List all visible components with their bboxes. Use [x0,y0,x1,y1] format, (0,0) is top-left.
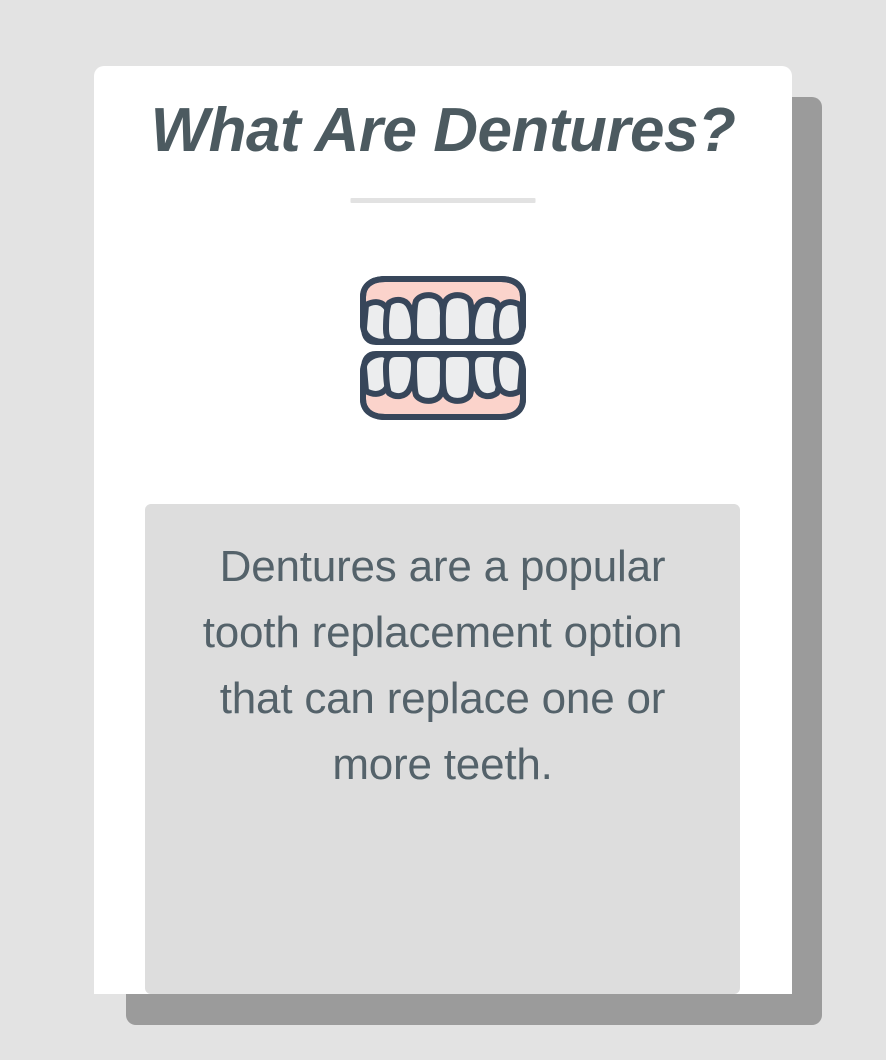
lower-tooth-2 [386,354,414,396]
dentures-info-card: What Are Dentures? [94,66,792,994]
lower-tooth-4 [443,354,472,401]
upper-tooth-4 [443,295,472,342]
dentures-icon [359,275,527,421]
body-text: Dentures are a popular tooth replacement… [167,534,718,798]
title-divider [351,198,536,203]
lower-tooth-3 [414,354,443,401]
body-text-panel: Dentures are a popular tooth replacement… [145,504,740,994]
screenshot-root: What Are Dentures? [0,0,886,1060]
upper-tooth-2 [386,300,414,342]
card-inner: What Are Dentures? [94,66,792,994]
upper-tooth-3 [414,295,443,342]
page-title: What Are Dentures? [94,94,792,168]
